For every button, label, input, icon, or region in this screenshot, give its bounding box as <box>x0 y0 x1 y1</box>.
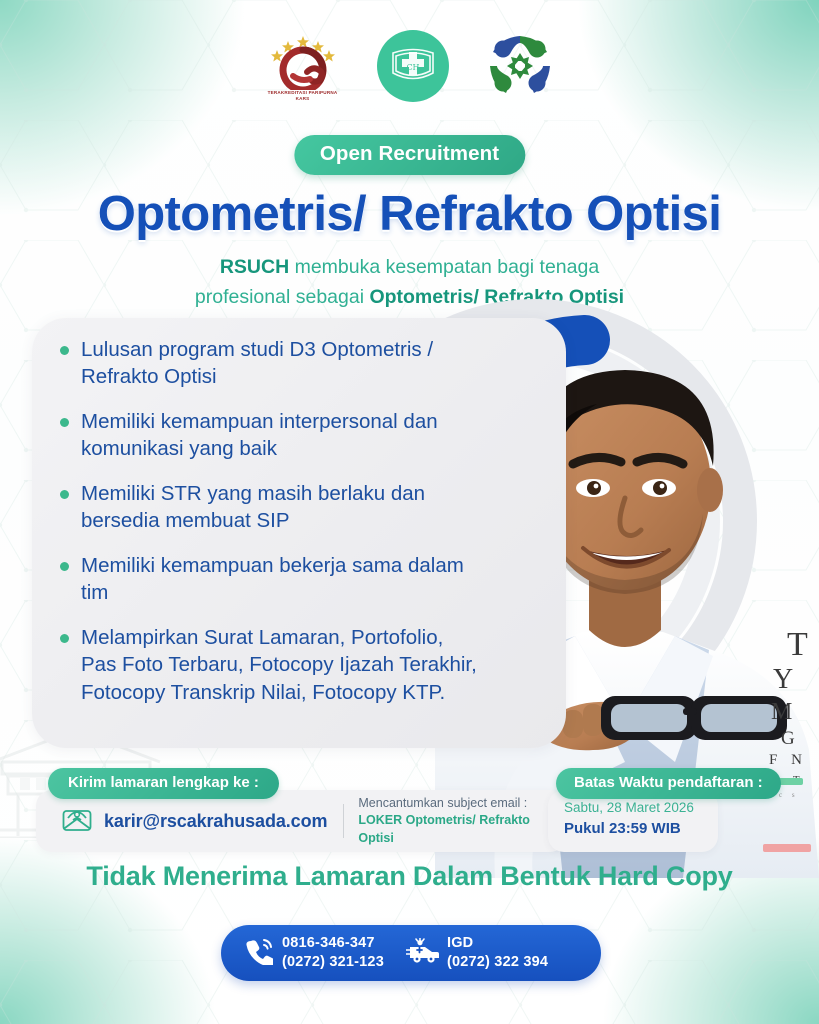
eye-chart-red-bar <box>763 844 811 852</box>
bullet-dot-icon <box>60 562 69 571</box>
bullet-dot-icon <box>60 490 69 499</box>
requirement-text: Lulusan program studi D3 Optometris / Re… <box>81 336 480 391</box>
kars-logo-caption: TERAKREDITASI PARIPURNA KARS <box>263 90 343 102</box>
list-item: Lulusan program studi D3 Optometris / Re… <box>60 336 480 391</box>
snellen-eye-chart: T Y M G F N R T c s <box>757 628 819 868</box>
kars-caption-line1: TERAKREDITASI PARIPURNA <box>268 90 338 95</box>
list-item: Melampirkan Surat Lamaran, Portofolio, P… <box>60 624 480 706</box>
phone-line-2: (0272) 321-123 <box>282 953 384 972</box>
submission-label-badge: Kirim lamaran lengkap ke : <box>48 768 279 799</box>
deadline-date: Sabtu, 28 Maret 2026 <box>564 800 694 815</box>
open-recruitment-badge: Open Recruitment <box>294 135 525 175</box>
bullet-dot-icon <box>60 418 69 427</box>
email-address[interactable]: karir@rscakrahusada.com <box>104 811 327 832</box>
list-item: Memiliki STR yang masih berlaku dan bers… <box>60 480 480 535</box>
subtitle-line1-rest: membuka kesempatan bagi tenaga <box>289 256 599 278</box>
contact-bar: 0816-346-347 (0272) 321-123 I <box>221 925 601 981</box>
hardcopy-notice: Tidak Menerima Lamaran Dalam Bentuk Hard… <box>0 861 819 892</box>
subject-note-label: Mencantumkan subject email : <box>358 795 566 813</box>
eye-chart-line-4: G <box>757 729 819 748</box>
kars-caption-line2: KARS <box>296 96 310 101</box>
subject-note: Mencantumkan subject email : LOKER Optom… <box>358 795 566 848</box>
phone-contact-group[interactable]: 0816-346-347 (0272) 321-123 <box>221 934 384 971</box>
requirement-text: Melampirkan Surat Lamaran, Portofolio, P… <box>81 624 480 706</box>
subtitle-line-2: profesional sebagai Optometris/ Refrakto… <box>0 282 819 312</box>
envelope-icon <box>62 806 92 837</box>
deadline-panel: Sabtu, 28 Maret 2026 Pukul 23:59 WIB <box>548 790 718 852</box>
subtitle-line-1: RSUCH membuka kesempatan bagi tenaga <box>0 252 819 282</box>
subtitle: RSUCH membuka kesempatan bagi tenaga pro… <box>0 252 819 312</box>
eye-chart-line-3: M <box>757 700 819 724</box>
igd-contact-group[interactable]: IGD (0272) 322 394 <box>384 934 548 971</box>
eye-chart-line-1: T <box>757 628 819 662</box>
svg-text:CH: CH <box>406 63 419 72</box>
deadline-label-badge: Batas Waktu pendaftaran : <box>556 768 781 799</box>
requirement-text: Memiliki kemampuan interpersonal dan kom… <box>81 408 480 463</box>
phone-line-1: 0816-346-347 <box>282 934 384 953</box>
recruitment-poster: TERAKREDITASI PARIPURNA KARS CH <box>0 0 819 1024</box>
phone-icon <box>245 937 273 970</box>
requirement-text: Memiliki STR yang masih berlaku dan bers… <box>81 480 480 535</box>
subtitle-org-name: RSUCH <box>220 256 289 278</box>
eye-chart-line-2: Y <box>757 666 819 694</box>
subtitle-role-name: Optometris/ Refrakto Optisi <box>369 286 624 308</box>
bullet-dot-icon <box>60 346 69 355</box>
kars-accreditation-logo: TERAKREDITASI PARIPURNA KARS <box>263 28 343 104</box>
logo-row: TERAKREDITASI PARIPURNA KARS CH <box>0 28 819 104</box>
requirement-text: Memiliki kemampuan bekerja sama dalam ti… <box>81 552 480 607</box>
community-people-logo <box>483 29 557 103</box>
requirements-list: Lulusan program studi D3 Optometris / Re… <box>60 336 480 723</box>
list-item: Memiliki kemampuan bekerja sama dalam ti… <box>60 552 480 607</box>
bullet-dot-icon <box>60 634 69 643</box>
ambulance-icon <box>406 938 440 969</box>
list-item: Memiliki kemampuan interpersonal dan kom… <box>60 408 480 463</box>
subtitle-line2-rest: profesional sebagai <box>195 286 370 308</box>
hospital-cross-logo: CH <box>377 30 449 102</box>
deadline-time: Pukul 23:59 WIB <box>564 820 681 837</box>
igd-numbers: IGD (0272) 322 394 <box>447 934 548 971</box>
submission-panel: karir@rscakrahusada.com Mencantumkan sub… <box>36 790 566 852</box>
eye-chart-line-5: F N <box>757 753 819 768</box>
phone-numbers: 0816-346-347 (0272) 321-123 <box>282 934 384 971</box>
divider <box>343 804 344 838</box>
page-title: Optometris/ Refrakto Optisi <box>0 186 819 242</box>
igd-label: IGD <box>447 934 548 953</box>
subject-note-value: LOKER Optometris/ Refrakto Optisi <box>358 812 566 847</box>
igd-phone: (0272) 322 394 <box>447 953 548 972</box>
